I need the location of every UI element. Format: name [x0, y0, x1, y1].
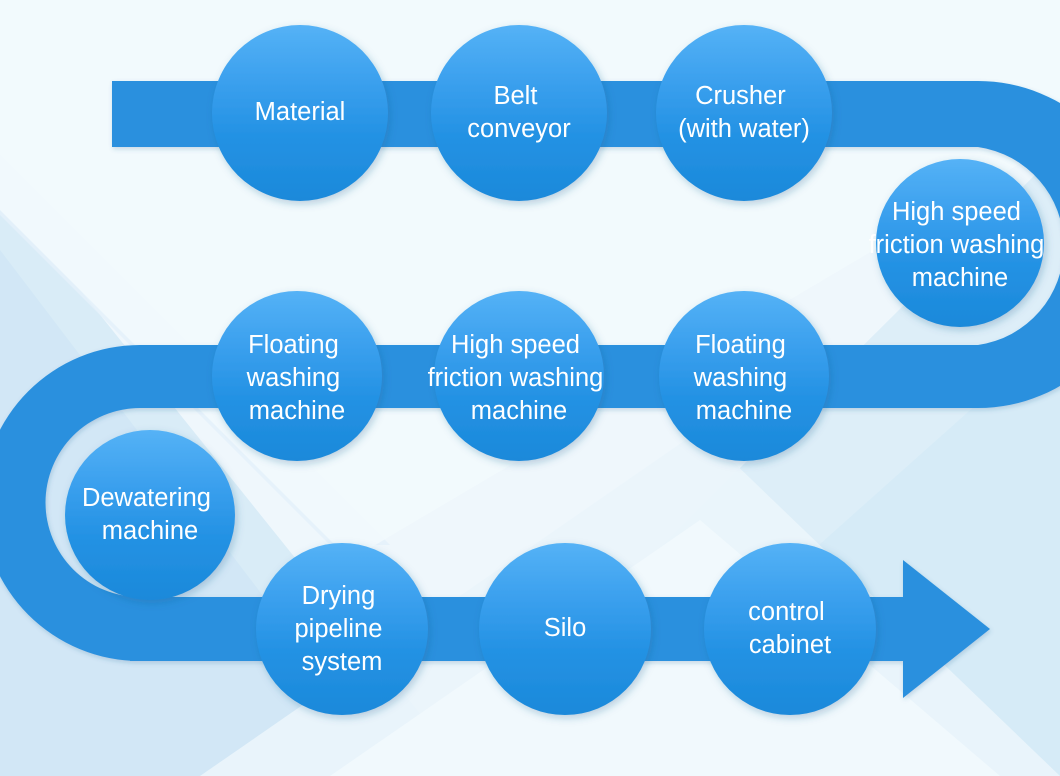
node-label: Floating washing machine [693, 331, 795, 425]
node-material[interactable]: Material [212, 25, 388, 201]
node-label: Silo [544, 614, 587, 642]
node-floating-washing-machine-1[interactable]: Floating washing machine [659, 291, 829, 461]
node-control-cabinet[interactable]: control cabinet [704, 543, 876, 715]
node-label: Floating washing machine [246, 331, 348, 425]
process-flow-diagram: Material Belt conveyor Crusher (with wat… [0, 0, 1060, 776]
node-circle [431, 25, 607, 201]
node-drying-pipeline-system[interactable]: Drying pipeline system [256, 543, 428, 715]
node-belt-conveyor[interactable]: Belt conveyor [431, 25, 607, 201]
node-label: Drying pipeline system [295, 582, 390, 676]
node-circle [65, 430, 235, 600]
node-silo[interactable]: Silo [479, 543, 651, 715]
node-label: Material [255, 98, 346, 126]
node-circle [704, 543, 876, 715]
node-dewatering-machine[interactable]: Dewatering machine [65, 430, 235, 600]
flowchart-canvas: Material Belt conveyor Crusher (with wat… [0, 0, 1060, 776]
node-floating-washing-machine-2[interactable]: Floating washing machine [212, 291, 382, 461]
node-circle [656, 25, 832, 201]
node-crusher[interactable]: Crusher (with water) [656, 25, 832, 201]
